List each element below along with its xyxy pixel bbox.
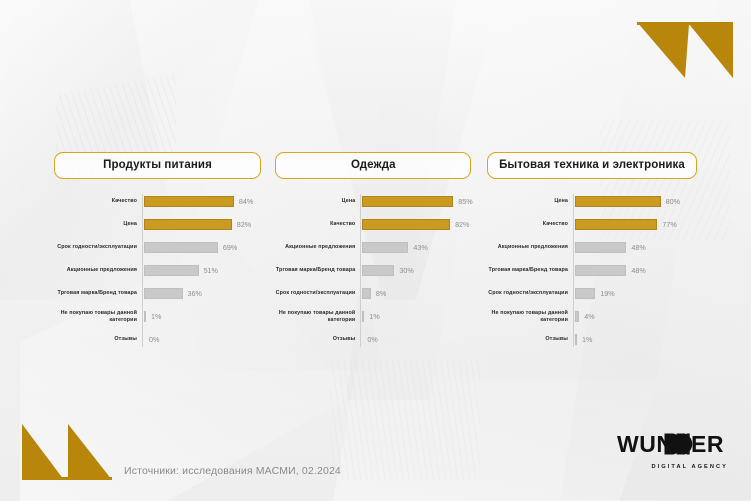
bar-value: 0% (362, 335, 377, 344)
chart-panel-food: Продукты питания Качество84% Цена82% Сро… (54, 152, 261, 353)
bar-row: Не покупаю товары данной категории4% (487, 307, 697, 326)
wunder-triangles-mark-bottom-icon (22, 424, 112, 480)
bar-label: Отзывы (487, 336, 573, 343)
bar-label: Не покупаю товары данной категории (487, 310, 573, 324)
chart-title-appliances: Бытовая техника и электроника (487, 152, 697, 179)
bar-row: Трговая марка/Бренд товара36% (54, 284, 261, 303)
bar-fill (575, 196, 661, 207)
bar-row: Качество84% (54, 192, 261, 211)
bar-row: Срок годности/эксплуатации69% (54, 238, 261, 257)
bar-value: 1% (146, 312, 161, 321)
bar-fill (575, 265, 626, 276)
bar-fill (575, 242, 626, 253)
bar-label: Трговая марка/Бренд товара (487, 267, 573, 274)
bar-label: Трговая марка/Бренд товара (275, 267, 360, 274)
chart-panel-appliances: Бытовая техника и электроника Цена80% Ка… (487, 152, 697, 353)
wunder-wordmark-icon: WUN ER (617, 432, 729, 463)
bar-value: 82% (450, 220, 469, 229)
bar-label: Отзывы (54, 336, 142, 343)
bar-fill (575, 219, 657, 230)
bar-label: Акционные предложения (487, 244, 573, 251)
bar-value: 84% (234, 197, 253, 206)
bar-row: Не покупаю товары данной категории1% (54, 307, 261, 326)
bar-value: 8% (371, 289, 386, 298)
bar-value: 19% (595, 289, 614, 298)
bar-value: 30% (394, 266, 413, 275)
bar-row: Качество77% (487, 215, 697, 234)
bar-row: Срок годности/эксплуатации19% (487, 284, 697, 303)
wunder-tagline: DIGITAL AGENCY (617, 464, 729, 470)
slide-canvas: Продукты питания Качество84% Цена82% Сро… (0, 0, 751, 501)
bar-row: Акционные предложения51% (54, 261, 261, 280)
bar-label: Отзывы (275, 336, 360, 343)
chart-bars-appliances: Цена80% Качество77% Акционные предложени… (487, 192, 697, 349)
bar-label: Качество (275, 221, 360, 228)
bar-value: 77% (657, 220, 676, 229)
bar-fill (144, 288, 183, 299)
bar-value: 48% (626, 243, 645, 252)
wunder-logo: WUN ER DIGITAL AGENCY (617, 432, 729, 470)
bar-fill (362, 265, 394, 276)
bar-value: 1% (364, 312, 379, 321)
bar-label: Акционные предложения (54, 267, 142, 274)
bar-label: Срок годности/эксплуатации (487, 290, 573, 297)
chart-bars-clothing: Цена85% Качество82% Акционные предложени… (275, 192, 472, 349)
wunder-triangles-mark-icon (637, 22, 733, 78)
chart-bars-food: Качество84% Цена82% Срок годности/эксплу… (54, 192, 261, 349)
bar-label: Качество (487, 221, 573, 228)
bar-row: Отзывы0% (275, 330, 472, 349)
bar-row: Цена82% (54, 215, 261, 234)
bar-value: 0% (144, 335, 159, 344)
bar-value: 80% (661, 197, 680, 206)
bar-row: Срок годности/эксплуатации8% (275, 284, 472, 303)
bar-row: Отзывы1% (487, 330, 697, 349)
bar-fill (144, 242, 218, 253)
bar-value: 82% (232, 220, 251, 229)
source-note: Источники: исследования МАСМИ, 02.2024 (124, 465, 341, 477)
svg-text:ER: ER (691, 432, 724, 457)
bar-value: 51% (199, 266, 218, 275)
bar-label: Не покупаю товары данной категории (54, 310, 142, 324)
bar-label: Срок годности/эксплуатации (54, 244, 142, 251)
bar-value: 69% (218, 243, 237, 252)
bar-value: 1% (577, 335, 592, 344)
bar-label: Цена (487, 198, 573, 205)
bar-fill (144, 265, 199, 276)
bar-row: Трговая марка/Бренд товара48% (487, 261, 697, 280)
bar-label: Цена (275, 198, 360, 205)
bar-value: 48% (626, 266, 645, 275)
bar-label: Не покупаю товары данной категории (275, 310, 360, 324)
bar-fill (144, 196, 234, 207)
charts-row: Продукты питания Качество84% Цена82% Сро… (0, 152, 751, 353)
bar-row: Акционные предложения48% (487, 238, 697, 257)
bar-fill (362, 196, 453, 207)
bar-fill (362, 242, 408, 253)
bar-fill (144, 219, 232, 230)
bar-fill (362, 219, 450, 230)
bar-row: Отзывы0% (54, 330, 261, 349)
chart-title-clothing: Одежда (275, 152, 471, 179)
bar-value: 4% (579, 312, 594, 321)
bar-row: Трговая марка/Бренд товара30% (275, 261, 472, 280)
bar-value: 43% (408, 243, 427, 252)
bar-label: Цена (54, 221, 142, 228)
bar-label: Срок годности/эксплуатации (275, 290, 360, 297)
bar-label: Трговая марка/Бренд товара (54, 290, 142, 297)
bar-fill (362, 288, 371, 299)
bar-row: Цена85% (275, 192, 472, 211)
bar-row: Качество82% (275, 215, 472, 234)
bar-label: Акционные предложения (275, 244, 360, 251)
bar-value: 36% (183, 289, 202, 298)
bar-fill (575, 288, 595, 299)
chart-title-food: Продукты питания (54, 152, 261, 179)
bar-row: Цена80% (487, 192, 697, 211)
bar-row: Не покупаю товары данной категории1% (275, 307, 472, 326)
bar-row: Акционные предложения43% (275, 238, 472, 257)
chart-panel-clothing: Одежда Цена85% Качество82% Акционные пре… (275, 152, 472, 353)
bar-value: 85% (453, 197, 472, 206)
bar-label: Качество (54, 198, 142, 205)
